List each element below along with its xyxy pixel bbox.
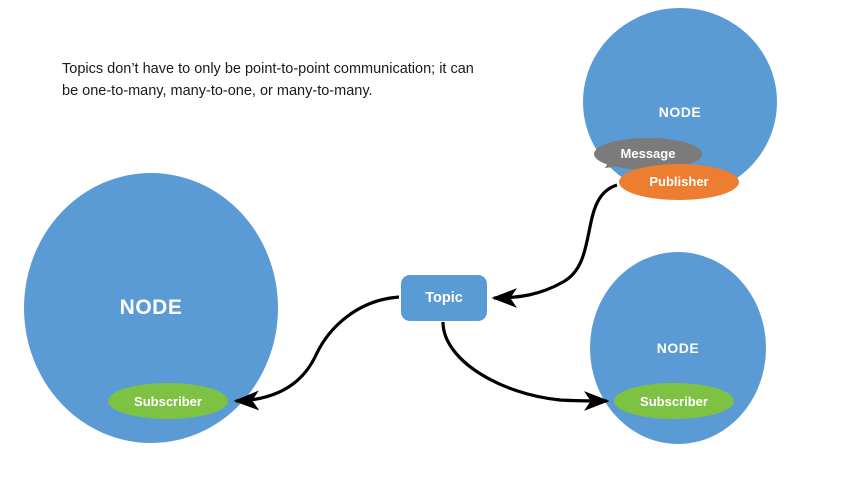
arrow-publisher-to-topic [494,185,617,298]
publisher-ellipse-shape[interactable] [619,164,739,200]
subscriber-right-ellipse-shape[interactable] [614,383,734,419]
slide-caption: Topics don’t have to only be point-to-po… [62,58,492,103]
topic-box-shape[interactable] [401,275,487,321]
slide-canvas: Topics don’t have to only be point-to-po… [0,0,854,480]
arrow-topic-to-subscriber-right [443,322,607,401]
subscriber-left-ellipse-shape[interactable] [108,383,228,419]
